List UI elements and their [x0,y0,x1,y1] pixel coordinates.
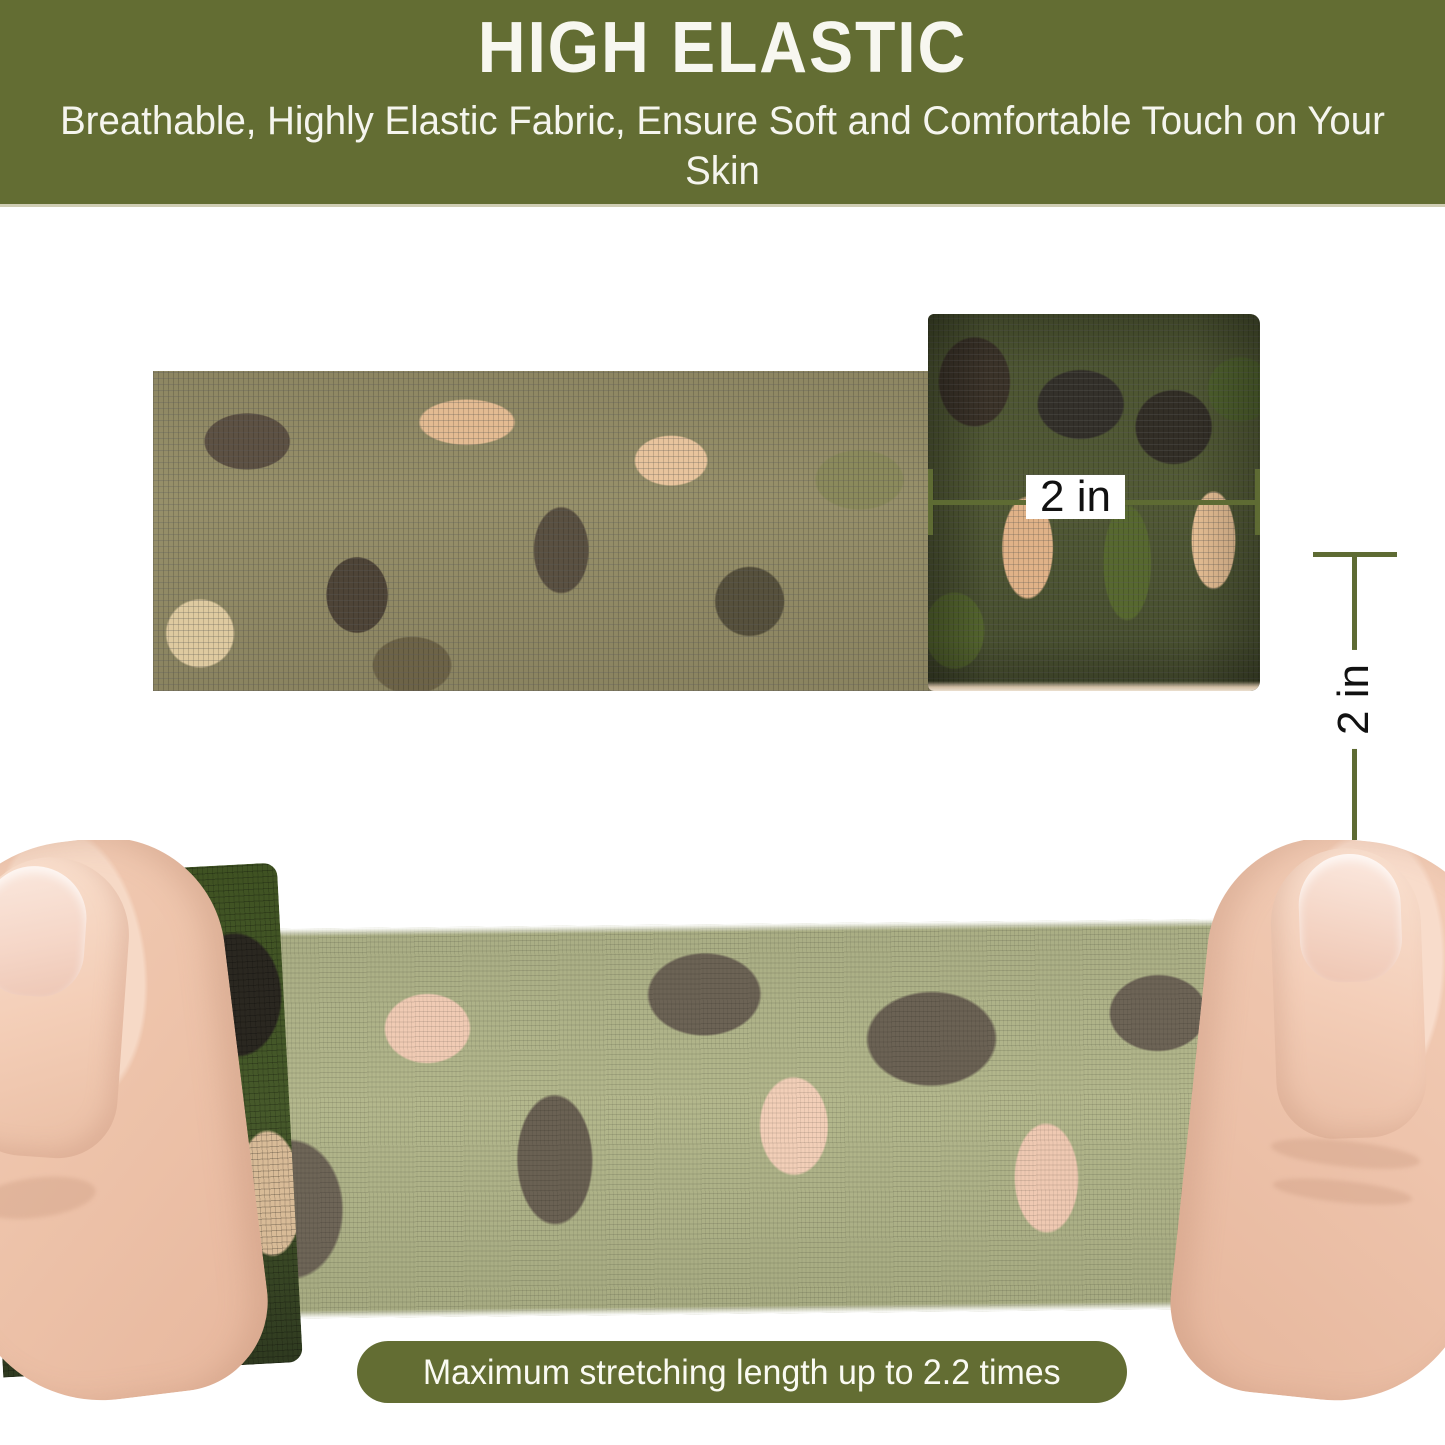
width-dimension-label: 2 in [1026,475,1125,519]
product-spec-area: 2 in 2 in Total Length: 180 in / 5 Yds [0,207,1445,822]
mesh-highlight-texture [153,371,938,691]
width-tick-left [928,469,933,535]
height-dimension-label: 2 in [1332,650,1376,749]
stretch-badge-label: Maximum stretching length up to 2.2 time… [423,1355,1061,1390]
roll-edge-lip [928,681,1260,691]
page-title: HIGH ELASTIC [58,0,1387,84]
stretch-badge: Maximum stretching length up to 2.2 time… [357,1341,1127,1403]
header-subtitle: Breathable, Highly Elastic Fabric, Ensur… [29,84,1416,196]
right-thumbnail [1297,852,1403,983]
width-tick-right [1255,469,1260,535]
header-banner: HIGH ELASTIC Breathable, Highly Elastic … [0,0,1445,207]
height-tick-top [1313,552,1397,557]
right-knuckle-upper [1270,1133,1422,1175]
right-knuckle-lower [1272,1173,1414,1210]
left-knuckle [0,1171,98,1225]
tape-strip-image [153,371,938,691]
